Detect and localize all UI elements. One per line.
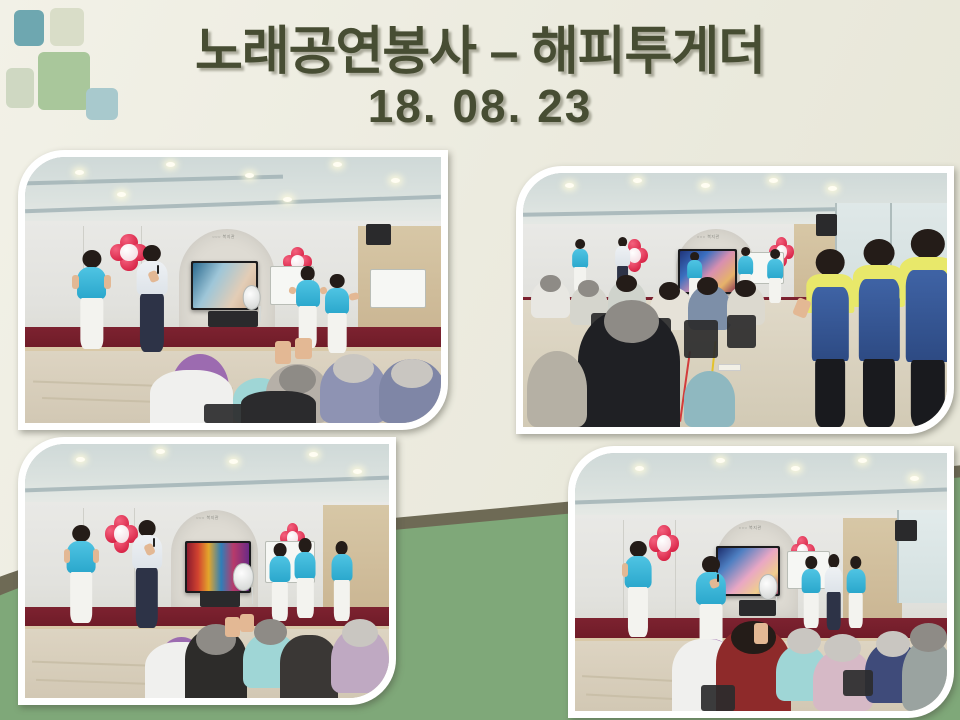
slide-canvas: 노래공연봉사 – 해피투게더 18. 08. 23 ○○○ 복지관: [0, 0, 960, 720]
photo-frame-3[interactable]: ○○○ 복지관: [18, 437, 396, 705]
square-sage-small-icon: [6, 68, 34, 108]
photo-frame-4[interactable]: ○○○ 복지관: [568, 446, 954, 718]
title-main-text: 노래공연봉사 – 해피투게더: [0, 26, 960, 79]
singer: [131, 245, 173, 362]
square-teal-icon: [14, 10, 44, 46]
whiteboard: [370, 269, 426, 308]
photo-3-image: ○○○ 복지관: [25, 444, 389, 698]
photo-2-image: ○○○ 복지관: [523, 173, 947, 427]
photo-4-image: ○○○ 복지관: [575, 453, 947, 711]
performer: [71, 250, 113, 356]
square-pale-icon: [50, 8, 84, 46]
title-date-text: 18. 08. 23: [0, 83, 960, 130]
photo-1-image: ○○○ 복지관: [25, 157, 441, 423]
square-sage-large-icon: [38, 52, 90, 110]
photo-frame-2[interactable]: ○○○ 복지관: [516, 166, 954, 434]
page-title: 노래공연봉사 – 해피투게더 18. 08. 23: [0, 26, 960, 130]
volunteer: [896, 229, 947, 427]
square-light-teal-icon: [86, 88, 118, 120]
photo-frame-1[interactable]: ○○○ 복지관: [18, 150, 448, 430]
